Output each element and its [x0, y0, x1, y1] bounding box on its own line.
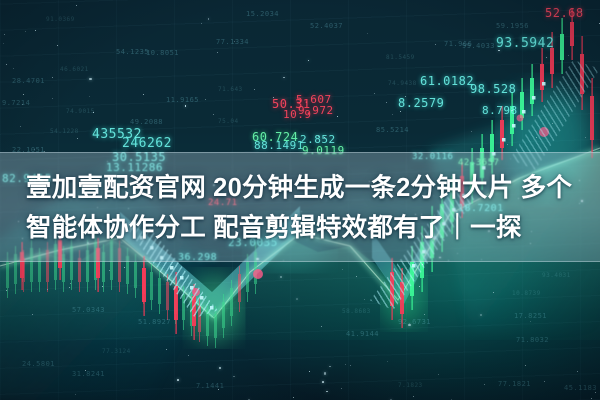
band-top-edge	[0, 152, 600, 153]
banner-title: 壹加壹配资官网 20分钟生成一条2分钟大片 多个智能体协作分工 配音剪辑特效都有…	[26, 168, 574, 248]
band-bottom-edge	[0, 261, 600, 262]
banner-image: 91.036954.123510.805146.602177.133415.20…	[0, 0, 600, 400]
